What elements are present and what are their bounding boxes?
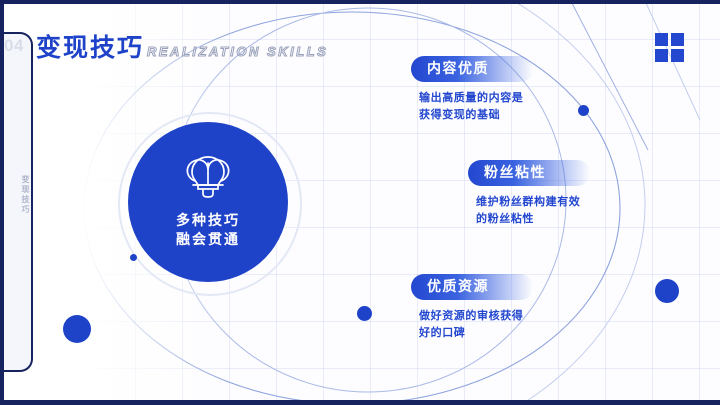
frame-top-bar: [0, 0, 720, 4]
center-hub: 多种技巧 融会贯通: [128, 122, 288, 282]
feature-card[interactable]: 粉丝粘性 维护粉丝群构建有效 的粉丝粘性: [468, 160, 590, 227]
feature-card-body: 做好资源的审核获得 好的口碑: [419, 307, 533, 341]
page-title: 变现技巧: [36, 28, 144, 64]
decor-squares-group: [655, 33, 685, 63]
feature-card-body: 输出高质量的内容是 获得变现的基础: [419, 89, 533, 123]
side-tab-label: 变现技巧: [4, 175, 31, 215]
feature-card[interactable]: 优质资源 做好资源的审核获得 好的口碑: [411, 274, 533, 341]
orbit-dot-large: [655, 279, 679, 303]
decor-square-icon: [655, 33, 668, 46]
frame-bottom-bar: [0, 400, 720, 405]
decor-square-icon: [655, 49, 668, 62]
feature-card-label: 优质资源: [411, 274, 533, 300]
center-label-line2: 融会贯通: [176, 231, 240, 250]
lightbulb-icon: [177, 153, 239, 204]
decor-square-icon: [671, 49, 684, 62]
feature-card-body: 维护粉丝群构建有效 的粉丝粘性: [476, 193, 590, 227]
feature-card-label: 粉丝粘性: [468, 160, 590, 186]
decor-square-icon: [671, 33, 684, 46]
page-subtitle: REALIZATION SKILLS: [147, 44, 328, 59]
feature-card[interactable]: 内容优质 输出高质量的内容是 获得变现的基础: [411, 56, 533, 123]
feature-card-label: 内容优质: [411, 56, 533, 82]
orbit-dot-medium: [357, 306, 372, 321]
section-number: 04: [4, 36, 34, 56]
slide-canvas: 04 变现技巧 变现技巧 REALIZATION SKILLS 多种技巧: [0, 0, 720, 405]
orbit-dot-tiny: [130, 254, 137, 261]
orbit-dot-large: [63, 315, 91, 343]
orbit-dot-small: [578, 105, 589, 116]
center-label-line1: 多种技巧: [176, 212, 240, 231]
